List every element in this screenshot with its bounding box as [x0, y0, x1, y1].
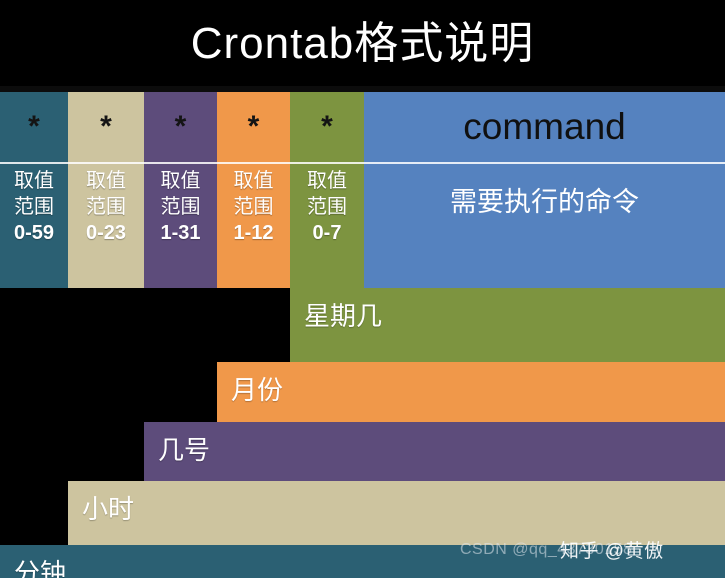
page-title: Crontab格式说明	[0, 8, 725, 80]
column-minute: * 取值 范围 0-59	[0, 92, 68, 288]
column-divider	[217, 162, 290, 164]
column-month: * 取值 范围 1-12	[217, 92, 290, 288]
range-hour: 取值 范围 0-23	[68, 168, 144, 246]
column-divider	[364, 162, 725, 164]
column-divider	[290, 162, 364, 164]
band-day-of-week: 星期几	[290, 288, 725, 362]
command-description: 需要执行的命令	[364, 180, 725, 219]
range-day-of-week: 取值 范围 0-7	[290, 168, 364, 246]
column-hour: * 取值 范围 0-23	[68, 92, 144, 288]
asterisk-minute: *	[0, 92, 68, 162]
band-minute-label: 分钟	[14, 553, 66, 578]
column-day-of-month: * 取值 范围 1-31	[144, 92, 217, 288]
asterisk-hour: *	[68, 92, 144, 162]
range-label-line2: 范围	[0, 194, 68, 220]
asterisk-month: *	[217, 92, 290, 162]
watermark-zhihu: 知乎 @黄傲	[560, 536, 664, 563]
band-hour-label: 小时	[82, 489, 134, 526]
column-divider	[144, 162, 217, 164]
column-day-of-week: * 取值 范围 0-7	[290, 92, 364, 288]
range-value-day-of-week: 0-7	[290, 220, 364, 246]
command-heading: command	[364, 92, 725, 162]
band-day-of-week-label: 星期几	[304, 296, 382, 333]
range-label-line2: 范围	[144, 194, 217, 220]
range-label-line1: 取值	[0, 168, 68, 194]
range-label-line2: 范围	[290, 194, 364, 220]
range-label-line1: 取值	[290, 168, 364, 194]
asterisk-day-of-month: *	[144, 92, 217, 162]
band-month: 月份	[217, 362, 725, 422]
column-command: command 需要执行的命令	[364, 92, 725, 288]
range-label-line2: 范围	[68, 194, 144, 220]
asterisk-day-of-week: *	[290, 92, 364, 162]
range-month: 取值 范围 1-12	[217, 168, 290, 246]
column-divider	[68, 162, 144, 164]
range-value-day-of-month: 1-31	[144, 220, 217, 246]
range-day-of-month: 取值 范围 1-31	[144, 168, 217, 246]
range-label-line2: 范围	[217, 194, 290, 220]
column-divider	[0, 162, 68, 164]
band-month-label: 月份	[231, 370, 283, 407]
title-bar: Crontab格式说明	[0, 0, 725, 92]
range-value-minute: 0-59	[0, 220, 68, 246]
crontab-format-diagram: Crontab格式说明 分钟 小时 几号 月份 星期几 * 取值 范围 0-59…	[0, 0, 725, 578]
range-label-line1: 取值	[68, 168, 144, 194]
band-day-of-month: 几号	[144, 422, 725, 481]
range-value-month: 1-12	[217, 220, 290, 246]
band-day-of-month-label: 几号	[158, 430, 210, 467]
range-label-line1: 取值	[144, 168, 217, 194]
range-label-line1: 取值	[217, 168, 290, 194]
range-minute: 取值 范围 0-59	[0, 168, 68, 246]
range-value-hour: 0-23	[68, 220, 144, 246]
